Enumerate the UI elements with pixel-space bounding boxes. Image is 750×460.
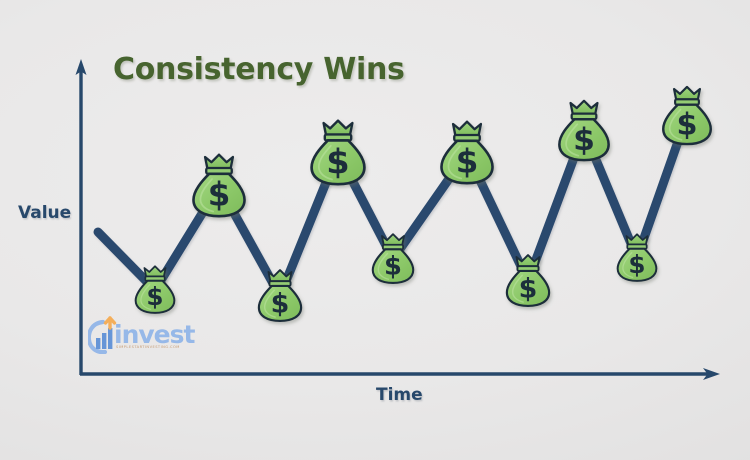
money-bag-marker bbox=[507, 255, 549, 306]
money-bag-marker bbox=[663, 87, 711, 144]
chart-canvas: $ Consistency Wins Value Time bbox=[0, 0, 750, 460]
money-bag-marker bbox=[441, 122, 492, 183]
x-axis-label: Time bbox=[376, 385, 423, 405]
brand-watermark: invest SIMPLESTARTINVESTING.COM bbox=[88, 316, 198, 360]
money-bag-marker bbox=[618, 234, 657, 281]
chart-title: Consistency Wins bbox=[113, 52, 405, 87]
y-axis-label: Value bbox=[18, 203, 71, 223]
data-point-markers bbox=[136, 87, 711, 321]
money-bag-marker bbox=[312, 121, 365, 185]
money-bag-marker bbox=[193, 155, 244, 216]
money-bag-marker bbox=[559, 101, 608, 160]
brand-tagline: SIMPLESTARTINVESTING.COM bbox=[116, 345, 180, 349]
